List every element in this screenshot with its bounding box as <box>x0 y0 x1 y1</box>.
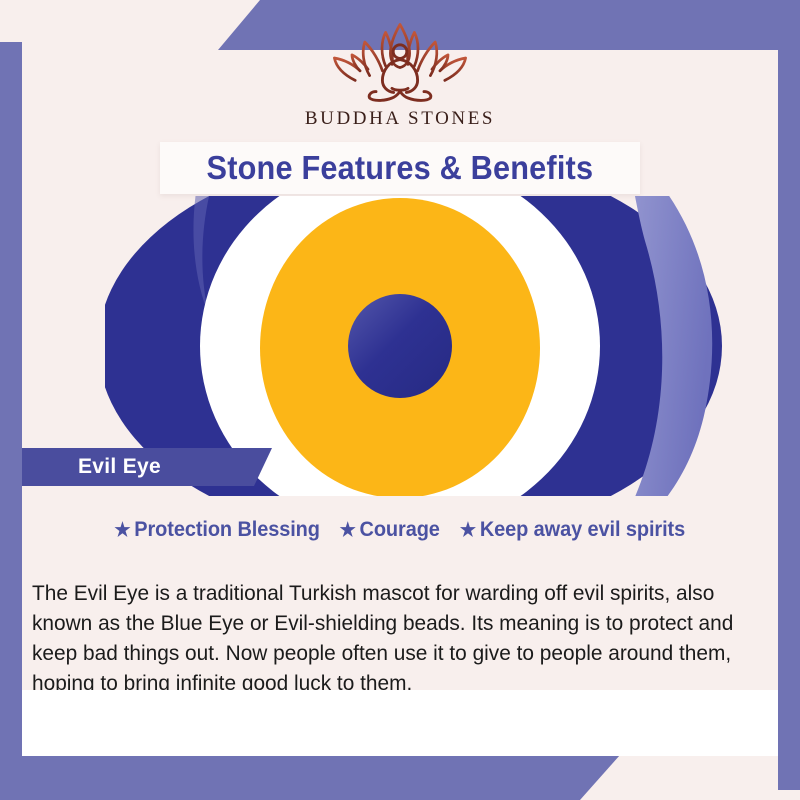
feature-item-courage: ★ Courage <box>340 518 440 542</box>
feature-item-keep-away-evil-spirits: ★ Keep away evil spirits <box>460 518 685 542</box>
brand-logo: BUDDHA STONES <box>0 18 800 138</box>
star-icon: ★ <box>114 521 130 540</box>
feature-label: Courage <box>359 518 439 542</box>
evil-eye-ribbon: Evil Eye <box>22 448 272 486</box>
evil-eye-ribbon-label: Evil Eye <box>78 455 161 479</box>
description-paragraph: The Evil Eye is a traditional Turkish ma… <box>32 578 758 698</box>
page-title: Stone Features & Benefits <box>207 149 594 187</box>
feature-label: Keep away evil spirits <box>480 518 685 542</box>
frame-band-bottom <box>0 755 620 800</box>
star-icon: ★ <box>460 521 476 540</box>
star-icon: ★ <box>340 521 356 540</box>
lower-white-panel <box>22 690 778 756</box>
feature-item-protection-blessing: ★ Protection Blessing <box>114 518 319 542</box>
feature-list: ★ Protection Blessing ★ Courage ★ Keep a… <box>0 518 800 542</box>
infographic-poster: BUDDHA STONES Stone Features & Benefits <box>0 0 800 800</box>
lotus-meditation-icon <box>320 18 480 106</box>
feature-label: Protection Blessing <box>134 518 320 542</box>
brand-name: BUDDHA STONES <box>305 108 495 130</box>
title-banner: Stone Features & Benefits <box>160 142 640 194</box>
frame-band-left <box>0 42 22 800</box>
